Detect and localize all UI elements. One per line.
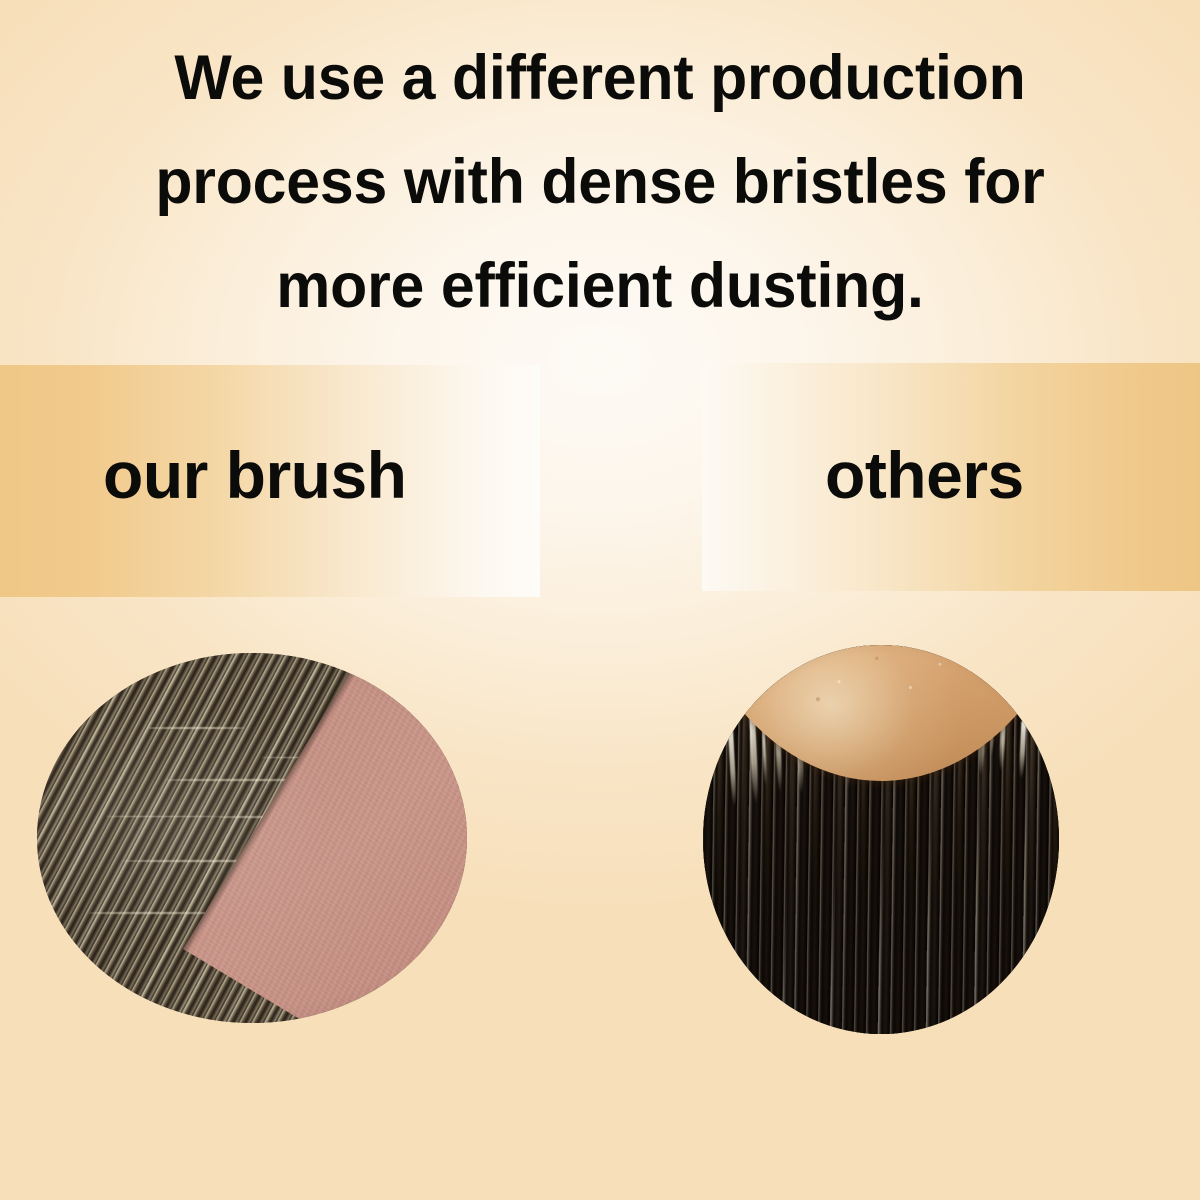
headline-line-1: We use a different production [21,26,1179,130]
others-label: others [825,442,1024,508]
others-photo-oval [703,645,1059,1034]
headline-line-3: more efficient dusting. [21,234,1179,338]
our-brush-photo-oval [37,653,467,1023]
product-comparison-poster: We use a different production process wi… [0,0,1200,1200]
headline-line-2: process with dense bristles for [21,130,1179,234]
headline-block: We use a different production process wi… [0,26,1200,338]
our-brush-label: our brush [103,442,407,508]
our-brush-photo-vignette [37,653,467,1023]
others-photo-vignette [703,645,1059,1034]
